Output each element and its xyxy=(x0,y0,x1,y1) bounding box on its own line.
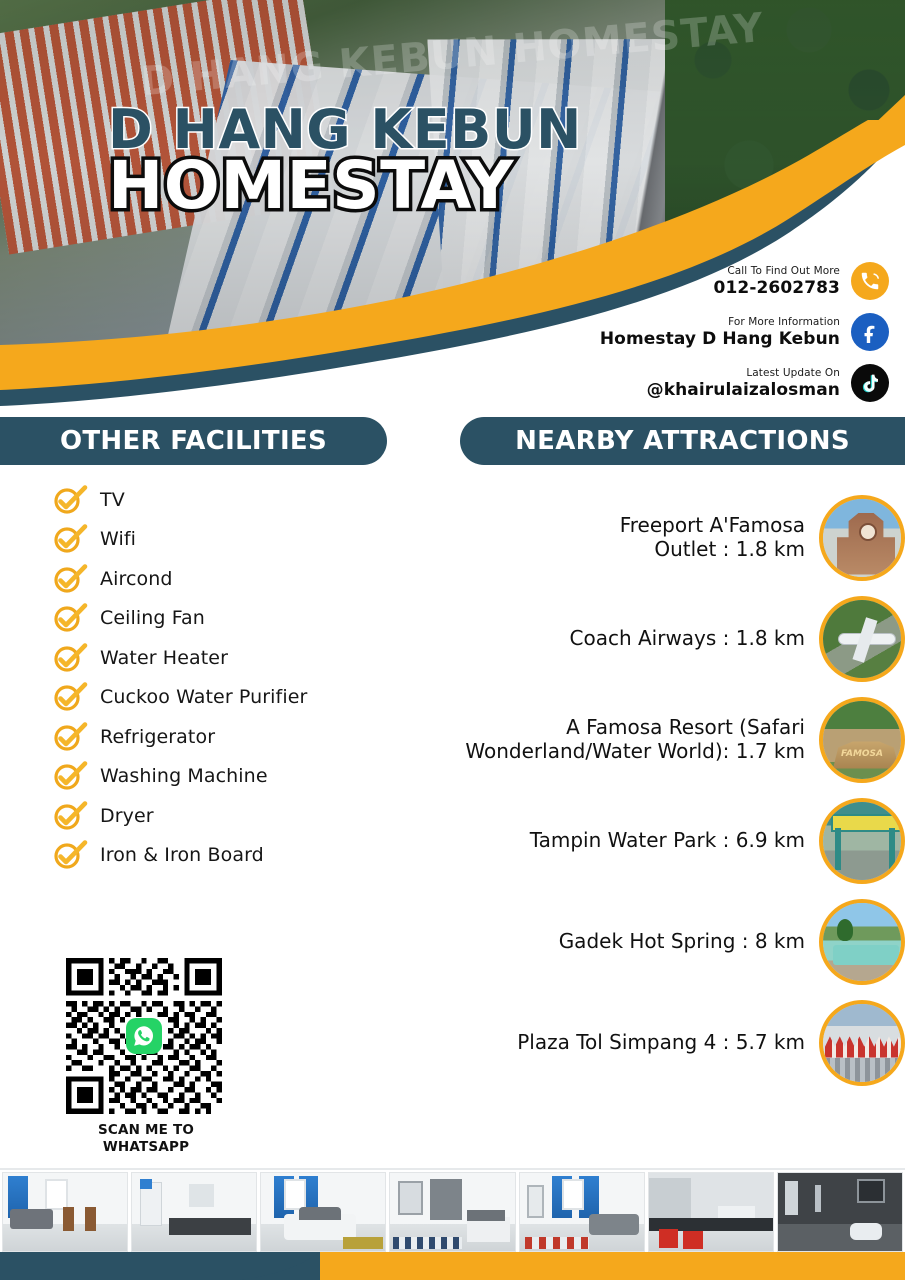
attraction-text: Plaza Tol Simpang 4 : 5.7 km xyxy=(400,1031,819,1055)
facebook-page-name: Homestay D Hang Kebun xyxy=(600,329,840,349)
section-header-facilities: OTHER FACILITIES xyxy=(0,417,387,465)
facility-label: Water Heater xyxy=(100,647,228,669)
contact-row-tiktok[interactable]: Latest Update On @khairulaizalosman xyxy=(559,364,889,402)
check-circle-icon xyxy=(52,485,90,515)
qr-code[interactable] xyxy=(66,958,222,1114)
phone-number: 012-2602783 xyxy=(714,278,840,298)
contact-info-group: Call To Find Out More 012-2602783 For Mo… xyxy=(559,262,889,415)
list-item: Ceiling Fan xyxy=(52,599,412,639)
bedroom-photo xyxy=(260,1172,386,1252)
list-item: Washing Machine xyxy=(52,757,412,797)
facility-label: Ceiling Fan xyxy=(100,607,205,629)
facility-label: Iron & Iron Board xyxy=(100,844,264,866)
facility-label: Washing Machine xyxy=(100,765,268,787)
attraction-name: Coach Airways : 1.8 km xyxy=(400,627,805,651)
list-item: A Famosa Resort (Safari Wonderland/Water… xyxy=(400,689,905,790)
attraction-name: Freeport A'Famosa xyxy=(400,514,805,538)
check-circle-icon xyxy=(52,801,90,831)
check-circle-icon xyxy=(52,564,90,594)
list-item: Refrigerator xyxy=(52,717,412,757)
kitchen-photo xyxy=(131,1172,257,1252)
list-item: Wifi xyxy=(52,520,412,560)
list-item: Water Heater xyxy=(52,638,412,678)
contact-label: For More Information xyxy=(600,316,840,328)
list-item: Coach Airways : 1.8 km xyxy=(400,588,905,689)
tiktok-handle: @khairulaizalosman xyxy=(647,380,840,400)
attractions-heading: NEARBY ATTRACTIONS xyxy=(515,426,850,456)
facility-label: TV xyxy=(100,489,125,511)
contact-row-phone[interactable]: Call To Find Out More 012-2602783 xyxy=(559,262,889,300)
check-circle-icon xyxy=(52,840,90,870)
list-item: Iron & Iron Board xyxy=(52,836,412,876)
coach-airways-thumb xyxy=(819,596,905,682)
list-item: Tampin Water Park : 6.9 km xyxy=(400,790,905,891)
contact-label: Call To Find Out More xyxy=(714,265,840,277)
bathroom-photo xyxy=(777,1172,903,1252)
tiktok-icon[interactable] xyxy=(851,364,889,402)
attraction-text: Freeport A'Famosa Outlet : 1.8 km xyxy=(400,514,819,561)
attraction-name: A Famosa Resort (Safari xyxy=(400,716,805,740)
attraction-name: Plaza Tol Simpang 4 : 5.7 km xyxy=(400,1031,805,1055)
attractions-list: Freeport A'Famosa Outlet : 1.8 km Coach … xyxy=(400,487,905,1093)
attraction-name: Tampin Water Park : 6.9 km xyxy=(400,829,805,853)
phone-icon[interactable] xyxy=(851,262,889,300)
plaza-tol-simpang-thumb xyxy=(819,1000,905,1086)
list-item: TV xyxy=(52,480,412,520)
check-circle-icon xyxy=(52,603,90,633)
contact-row-facebook[interactable]: For More Information Homestay D Hang Keb… xyxy=(559,313,889,351)
bedroom-wardrobe-photo xyxy=(389,1172,515,1252)
qr-caption: SCAN ME TO WHATSAPP xyxy=(66,1122,226,1156)
contact-label: Latest Update On xyxy=(647,367,840,379)
attraction-text: Coach Airways : 1.8 km xyxy=(400,627,819,651)
gallery-strip xyxy=(0,1172,905,1252)
list-item: Cuckoo Water Purifier xyxy=(52,678,412,718)
facility-label: Cuckoo Water Purifier xyxy=(100,686,307,708)
whatsapp-icon xyxy=(126,1018,162,1054)
whatsapp-qr-block[interactable]: SCAN ME TO WHATSAPP xyxy=(66,958,226,1156)
list-item: Aircond xyxy=(52,559,412,599)
facility-label: Dryer xyxy=(100,805,154,827)
dining-counter-photo xyxy=(648,1172,774,1252)
section-header-attractions: NEARBY ATTRACTIONS xyxy=(460,417,905,465)
attraction-text: A Famosa Resort (Safari Wonderland/Water… xyxy=(400,716,819,763)
freeport-outlet-thumb xyxy=(819,495,905,581)
qr-caption-line1: SCAN ME TO xyxy=(66,1122,226,1139)
strip-divider xyxy=(0,1168,905,1170)
living-room-photo xyxy=(2,1172,128,1252)
list-item: Freeport A'Famosa Outlet : 1.8 km xyxy=(400,487,905,588)
list-item: Gadek Hot Spring : 8 km xyxy=(400,891,905,992)
facility-label: Aircond xyxy=(100,568,173,590)
attraction-text: Gadek Hot Spring : 8 km xyxy=(400,930,819,954)
facilities-heading: OTHER FACILITIES xyxy=(60,426,327,456)
gadek-hot-spring-thumb xyxy=(819,899,905,985)
footer-curve-icon xyxy=(240,1252,360,1280)
facebook-icon[interactable] xyxy=(851,313,889,351)
check-circle-icon xyxy=(52,524,90,554)
living-area-photo xyxy=(519,1172,645,1252)
attraction-detail: Wonderland/Water World): 1.7 km xyxy=(400,740,805,764)
check-circle-icon xyxy=(52,761,90,791)
facility-label: Refrigerator xyxy=(100,726,215,748)
footer-bar xyxy=(0,1252,905,1280)
check-circle-icon xyxy=(52,722,90,752)
list-item: Plaza Tol Simpang 4 : 5.7 km xyxy=(400,992,905,1093)
check-circle-icon xyxy=(52,643,90,673)
attraction-text: Tampin Water Park : 6.9 km xyxy=(400,829,819,853)
a-famosa-resort-thumb xyxy=(819,697,905,783)
tampin-water-park-thumb xyxy=(819,798,905,884)
qr-caption-line2: WHATSAPP xyxy=(66,1139,226,1156)
attraction-name: Gadek Hot Spring : 8 km xyxy=(400,930,805,954)
facility-label: Wifi xyxy=(100,528,136,550)
attraction-detail: Outlet : 1.8 km xyxy=(400,538,805,562)
check-circle-icon xyxy=(52,682,90,712)
list-item: Dryer xyxy=(52,796,412,836)
facilities-list: TV Wifi Aircond Ceiling Fan Water Heater… xyxy=(52,480,412,875)
